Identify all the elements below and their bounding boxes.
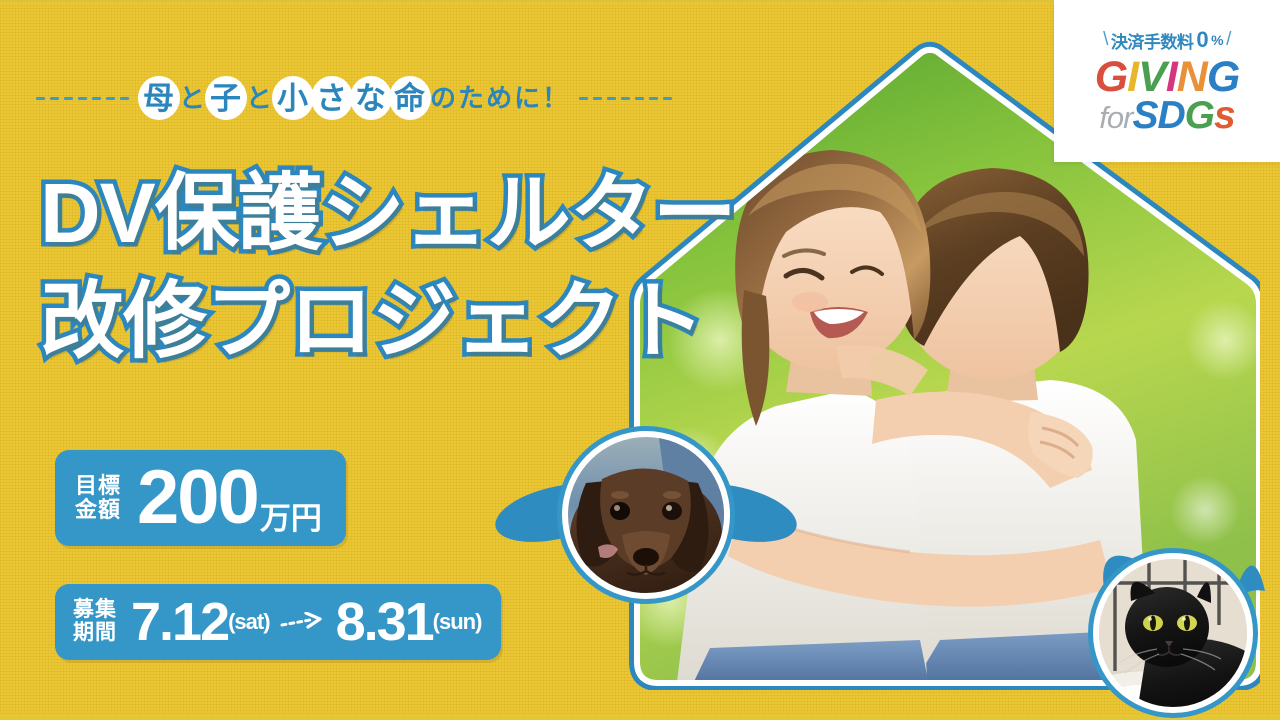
dash-mark <box>64 97 73 100</box>
for-text: for <box>1099 102 1132 133</box>
tagline-char-5: さ <box>312 83 351 114</box>
goal-amount-value: 200 <box>137 465 258 532</box>
dog-photo-ring <box>562 431 730 599</box>
goal-label-line-2: 金額 <box>75 498 121 522</box>
period-label-line-2: 期間 <box>73 622 117 645</box>
dash-mark <box>649 97 658 100</box>
tagline-char-11: に <box>513 85 541 111</box>
period-label-line-1: 募集 <box>73 599 117 622</box>
sdgs-letter-1: D <box>1157 96 1184 135</box>
giving-letter-1: I <box>1127 57 1138 98</box>
goal-amount-unit: 万円 <box>260 493 322 546</box>
dash-mark <box>621 97 630 100</box>
tagline-char-4: 小 <box>273 83 312 114</box>
tagline-char-8: の <box>429 85 457 111</box>
tagline-char-2: 子 <box>206 83 245 114</box>
fee-slash-left: \ <box>1103 29 1108 51</box>
dog-photo-image <box>562 431 730 599</box>
dash-mark <box>663 97 672 100</box>
tagline-char-6: な <box>351 83 390 114</box>
period-start-dow: (sat) <box>228 609 269 635</box>
tagline-char-9: た <box>457 85 485 111</box>
goal-label-line-1: 目標 <box>75 474 121 498</box>
tagline-char-10: め <box>485 85 513 111</box>
dash-mark <box>579 97 588 100</box>
dog-photo-badge <box>500 425 790 625</box>
giving-for-sdgs-logo[interactable]: \ 決済手数料 0 % / GIVING forSDGs <box>1054 0 1280 162</box>
title-line-2: 改修プロジェクト <box>40 268 736 376</box>
for-sdgs-wordmark: forSDGs <box>1099 96 1234 135</box>
tagline-char-7: 命 <box>390 83 429 114</box>
arrow-icon <box>280 612 326 632</box>
title-line-1: DV保護シェルター <box>40 160 736 268</box>
tagline-text: 母と子と小さな命のために！ <box>139 83 569 114</box>
sdgs-letter-0: S <box>1132 96 1157 135</box>
cat-photo-badge <box>1075 535 1280 720</box>
period-end-date: 8.31 <box>336 598 433 647</box>
goal-amount-badge: 目標 金額 200 万円 <box>55 450 346 546</box>
dash-mark <box>607 97 616 100</box>
cat-photo-image <box>1093 553 1253 713</box>
tagline-char-3: と <box>245 85 273 111</box>
dashes-left <box>36 97 129 100</box>
dash-mark <box>593 97 602 100</box>
fee-zero: 0 <box>1196 27 1208 53</box>
page-title: DV保護シェルター 改修プロジェクト <box>40 160 736 375</box>
tagline: 母と子と小さな命のために！ <box>36 74 672 122</box>
campaign-banner: \ 決済手数料 0 % / GIVING forSDGs 母と子と小さな命のため… <box>0 0 1280 720</box>
dash-mark <box>92 97 101 100</box>
fee-slash-right: / <box>1226 29 1231 51</box>
dash-mark <box>120 97 129 100</box>
dash-mark <box>50 97 59 100</box>
dash-mark <box>78 97 87 100</box>
sdgs-letter-3: s <box>1214 96 1235 135</box>
dash-mark <box>106 97 115 100</box>
goal-label: 目標 金額 <box>75 474 121 522</box>
period-end-dow: (sun) <box>433 609 482 635</box>
giving-letter-3: I <box>1166 57 1177 98</box>
dashes-right <box>579 97 672 100</box>
dash-mark <box>635 97 644 100</box>
tagline-char-0: 母 <box>139 83 178 114</box>
giving-letter-5: G <box>1207 57 1239 98</box>
period-label: 募集 期間 <box>73 599 117 644</box>
tagline-char-1: と <box>178 85 206 111</box>
cat-photo-ring <box>1093 553 1253 713</box>
payment-fee-note: \ 決済手数料 0 % / <box>1103 27 1231 53</box>
dash-mark <box>36 97 45 100</box>
giving-wordmark: GIVING <box>1095 57 1240 98</box>
tagline-char-12: ！ <box>541 85 569 111</box>
sdgs-letter-2: G <box>1185 96 1214 135</box>
giving-letter-2: V <box>1138 57 1166 98</box>
fee-percent: % <box>1211 32 1223 48</box>
campaign-period-badge: 募集 期間 7.12 (sat) 8.31 (sun) <box>55 584 501 660</box>
period-start-date: 7.12 <box>131 598 228 647</box>
fee-text: 決済手数料 <box>1111 28 1194 53</box>
giving-letter-0: G <box>1095 57 1127 98</box>
giving-letter-4: N <box>1177 57 1207 98</box>
